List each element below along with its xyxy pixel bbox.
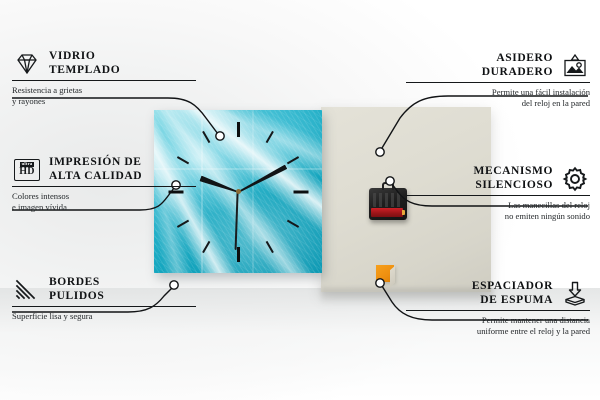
foam-spacer-part <box>376 265 394 282</box>
feature-title: MECANISMO SILENCIOSO <box>473 165 553 192</box>
feature-impresion-alta-calidad: ultra HD IMPRESIÓN DE ALTA CALIDAD Color… <box>12 156 196 212</box>
infographic-page: VIDRIO TEMPLADO Resistencia a grietas y … <box>0 0 600 400</box>
feature-divider <box>12 306 196 307</box>
clock-minute-hand <box>237 164 287 194</box>
foam-spacer-icon <box>560 281 590 307</box>
feature-subtitle-line1: Permite una fácil instalación <box>406 87 590 98</box>
clock-center-cap <box>236 189 241 194</box>
feature-mecanismo-silencioso: MECANISMO SILENCIOSO Las manecillas del … <box>406 165 590 221</box>
clock-tick <box>287 156 299 164</box>
feature-header: ASIDERO DURADERO <box>406 52 590 79</box>
gear-icon <box>560 166 590 192</box>
clock-tick <box>266 130 274 142</box>
feature-vidrio-templado: VIDRIO TEMPLADO Resistencia a grietas y … <box>12 50 196 106</box>
feature-header: ultra HD IMPRESIÓN DE ALTA CALIDAD <box>12 156 196 183</box>
feature-subtitle-line2: no emiten ningún sonido <box>406 211 590 222</box>
feature-subtitle-line2: e imagen vívida <box>12 202 196 213</box>
hanging-hook-icon <box>382 182 394 190</box>
feature-bordes-pulidos: BORDES PULIDOS Superficie lisa y segura <box>12 276 196 322</box>
feature-divider <box>406 82 590 83</box>
clock-second-hand <box>235 191 239 249</box>
clock-tick <box>237 247 240 262</box>
feature-subtitle-line2: y rayones <box>12 96 196 107</box>
feature-title: ESPACIADOR DE ESPUMA <box>472 280 553 307</box>
feature-divider <box>12 186 196 187</box>
feature-subtitle-line1: Permite mantener una distancia <box>406 315 590 326</box>
feature-title: IMPRESIÓN DE ALTA CALIDAD <box>49 156 142 183</box>
feature-header: MECANISMO SILENCIOSO <box>406 165 590 192</box>
feature-subtitle-line2: uniforme entre el reloj y la pared <box>406 326 590 337</box>
clock-tick <box>202 130 210 142</box>
clock-tick <box>266 240 274 252</box>
clock-tick <box>177 219 189 227</box>
clock-hour-hand <box>199 175 239 194</box>
feature-subtitle-line1: Superficie lisa y segura <box>12 311 196 322</box>
feature-title: ASIDERO DURADERO <box>482 52 553 79</box>
polished-edges-icon <box>12 277 42 303</box>
feature-header: VIDRIO TEMPLADO <box>12 50 196 77</box>
clock-tick <box>202 240 210 252</box>
feature-espaciador-de-espuma: ESPACIADOR DE ESPUMA Permite mantener un… <box>406 280 590 336</box>
feature-title: BORDES PULIDOS <box>49 276 104 303</box>
diamond-icon <box>12 51 42 77</box>
feature-subtitle-line1: Resistencia a grietas <box>12 85 196 96</box>
clock-movement-module <box>369 188 407 220</box>
feature-divider <box>12 80 196 81</box>
ultra-hd-icon: ultra HD <box>12 157 42 183</box>
clock-tick <box>287 219 299 227</box>
hanging-picture-icon <box>560 53 590 79</box>
feature-header: BORDES PULIDOS <box>12 276 196 303</box>
clock-tick <box>294 190 309 193</box>
feature-divider <box>406 195 590 196</box>
battery <box>371 208 403 217</box>
motor-vents <box>373 193 403 207</box>
feature-header: ESPACIADOR DE ESPUMA <box>406 280 590 307</box>
clock-tick <box>237 122 240 137</box>
feature-title: VIDRIO TEMPLADO <box>49 50 120 77</box>
feature-subtitle-line1: Las manecillas del reloj <box>406 200 590 211</box>
hd-badge-main-text: HD <box>19 167 35 177</box>
feature-divider <box>406 310 590 311</box>
feature-subtitle-line2: del reloj en la pared <box>406 98 590 109</box>
feature-asidero-duradero: ASIDERO DURADERO Permite una fácil insta… <box>406 52 590 108</box>
feature-subtitle-line1: Colores intensos <box>12 191 196 202</box>
